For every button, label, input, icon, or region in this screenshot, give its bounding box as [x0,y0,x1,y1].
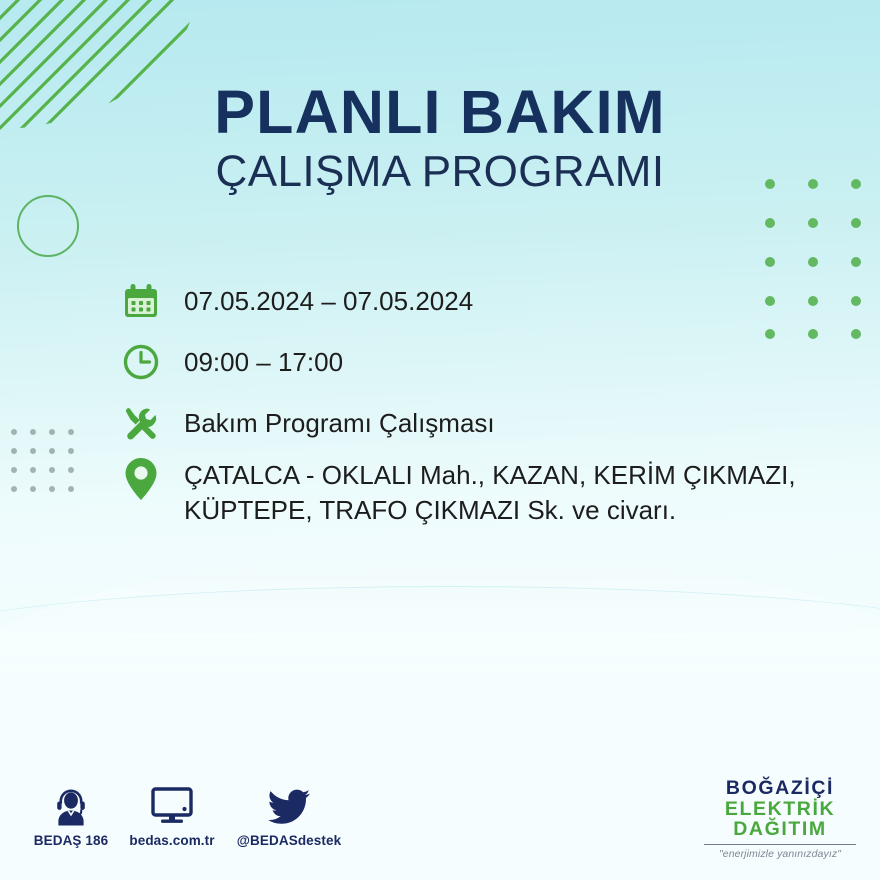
calendar-icon [118,278,164,324]
contact-twitter[interactable]: @BEDASdestek [214,782,364,848]
maintenance-details-list: 07.05.2024 – 07.05.2024 09:00 – 17:00 [118,278,858,542]
logo-divider [704,844,856,846]
location-line-2: KÜPTEPE, TRAFO ÇIKMAZI Sk. ve civarı. [184,495,676,525]
poster-canvas: PLANLI BAKIM ÇALIŞMA PROGRAMI [0,0,880,880]
page-title: PLANLI BAKIM [0,82,880,143]
logo-tagline: "enerjimizle yanınızdayız" [698,848,862,860]
twitter-bird-icon [214,782,364,826]
wave-decoration-middle [0,586,880,736]
bedas-logo: BOĞAZİÇİ ELEKTRİK DAĞITIM "enerjimizle y… [698,778,862,860]
date-range-value: 07.05.2024 – 07.05.2024 [184,278,473,319]
dot-grid-left-decoration [10,428,94,492]
poster-header: PLANLI BAKIM ÇALIŞMA PROGRAMI [0,82,880,195]
contact-twitter-label: @BEDASdestek [214,833,364,848]
logo-line-bogazici: BOĞAZİÇİ [698,778,862,799]
wave-decoration-upper [0,556,880,676]
clock-icon [118,339,164,385]
location-value: ÇATALCA - OKLALI Mah., KAZAN, KERİM ÇIKM… [184,456,796,527]
page-subtitle: ÇALIŞMA PROGRAMI [0,149,880,195]
tools-icon [118,400,164,446]
detail-row-work-type: Bakım Programı Çalışması [118,400,858,446]
logo-line-elektrik: ELEKTRİK [698,799,862,820]
logo-line-dagitim: DAĞITIM [698,819,862,840]
detail-row-location: ÇATALCA - OKLALI Mah., KAZAN, KERİM ÇIKM… [118,456,858,527]
detail-row-time: 09:00 – 17:00 [118,339,858,385]
detail-row-date: 07.05.2024 – 07.05.2024 [118,278,858,324]
wave-decoration-lower [0,636,880,766]
map-pin-icon [118,456,164,502]
circle-outline-decoration [17,195,79,257]
location-line-1: ÇATALCA - OKLALI Mah., KAZAN, KERİM ÇIKM… [184,460,796,490]
work-type-value: Bakım Programı Çalışması [184,400,495,441]
time-range-value: 09:00 – 17:00 [184,339,343,380]
